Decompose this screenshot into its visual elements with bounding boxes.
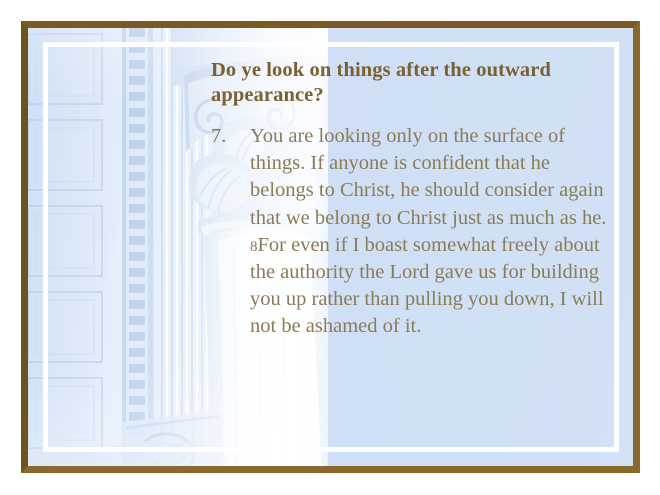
verse-number: 8 bbox=[250, 239, 258, 255]
list-item-number: 7. bbox=[211, 123, 241, 150]
scripture-text-part-1: You are looking only on the surface of t… bbox=[250, 125, 606, 229]
slide-title: Do ye look on things after the outward a… bbox=[211, 58, 581, 108]
list-item: 7.You are looking only on the surface of… bbox=[211, 123, 610, 341]
slide-frame-border: Do ye look on things after the outward a… bbox=[21, 21, 640, 473]
slide-content: Do ye look on things after the outward a… bbox=[211, 58, 616, 458]
presentation-slide: Do ye look on things after the outward a… bbox=[0, 0, 660, 495]
scripture-text-part-2: For even if I boast somewhat freely abou… bbox=[250, 234, 604, 338]
slide-body: 7.You are looking only on the surface of… bbox=[211, 123, 611, 341]
